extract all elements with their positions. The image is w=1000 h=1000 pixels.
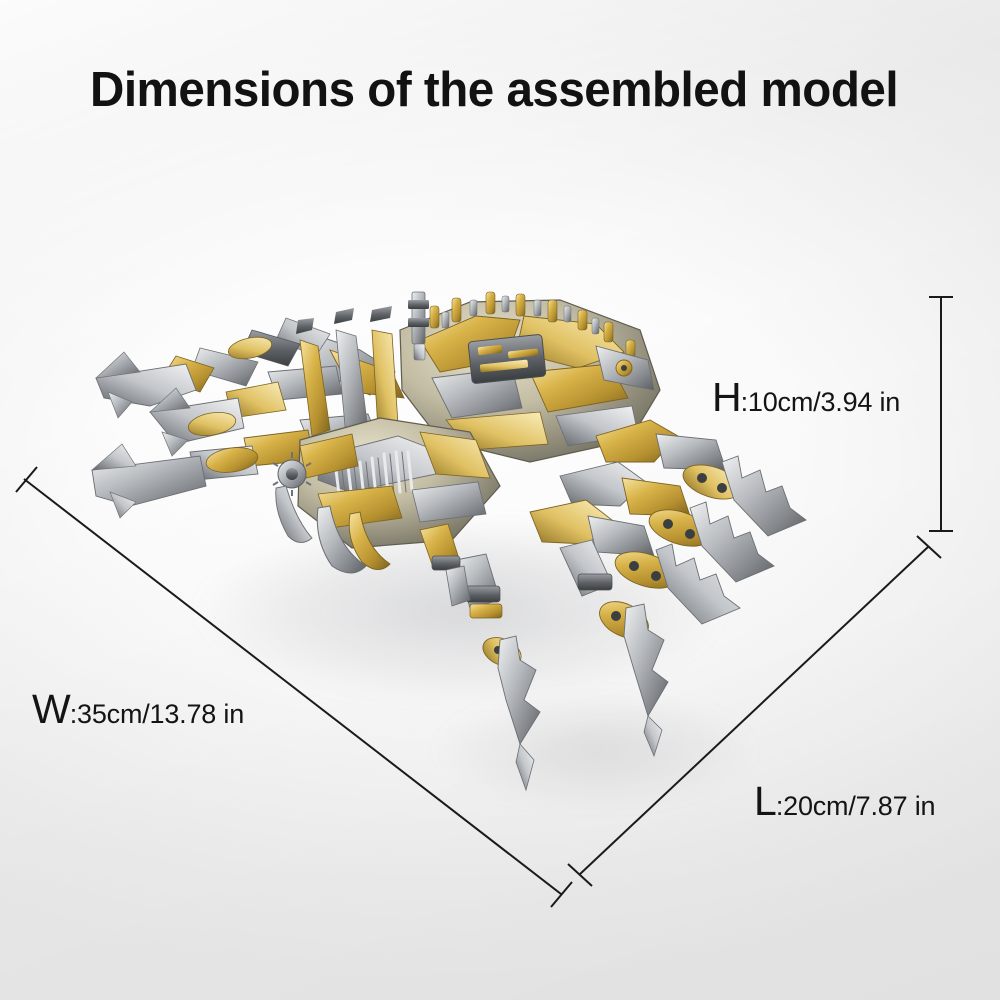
dimension-line-height bbox=[929, 297, 953, 531]
dimension-separator-height: : bbox=[741, 387, 748, 417]
dimension-label-height: H:10cm/3.94 in bbox=[712, 374, 900, 421]
product-dimension-image: Dimensions of the assembled model bbox=[0, 0, 1000, 1000]
dimension-axis-length: L bbox=[754, 778, 776, 824]
dimension-lines bbox=[0, 0, 1000, 1000]
dimension-value-width: 35cm/13.78 in bbox=[77, 699, 244, 729]
dimension-value-height: 10cm/3.94 in bbox=[748, 387, 900, 417]
dimension-value-length: 20cm/7.87 in bbox=[783, 791, 935, 821]
dimension-axis-height: H bbox=[712, 374, 741, 420]
dimension-label-width: W:35cm/13.78 in bbox=[32, 686, 244, 733]
dimension-line-length bbox=[568, 536, 941, 886]
dimension-axis-width: W bbox=[32, 686, 70, 732]
dimension-label-length: L:20cm/7.87 in bbox=[754, 778, 935, 825]
dimension-separator-width: : bbox=[70, 699, 77, 729]
